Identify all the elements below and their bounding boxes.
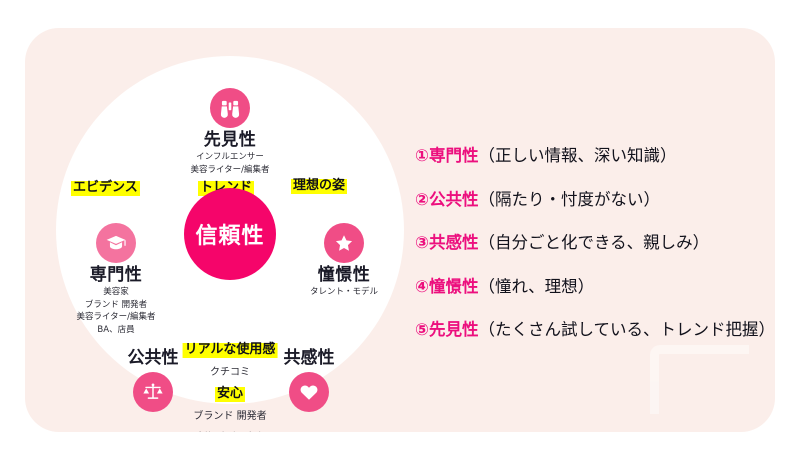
list-item: ③共感性（自分ごと化できる、親しみ） [415,235,775,252]
list-item: ①専門性（正しい情報、深い知識） [415,148,775,165]
list-item-key: ①専門性 [415,146,478,165]
list-item-value: （隔たり・忖度がない） [478,190,660,209]
caption-kuchikomi: クチコミ [210,363,250,378]
balance-scale-icon [133,372,173,412]
caption-anshin-sub-2: 家族、知人・友人 [196,430,264,432]
list-item: ②公共性（隔たり・忖度がない） [415,192,775,209]
node-title: 先見性 [150,130,310,151]
list-item-value: （自分ごと化できる、親しみ） [478,233,709,252]
node-shoukeisei: 憧憬性 タレント・モデル [264,223,424,299]
star-icon [324,223,364,263]
highlight-anshin: 安心 [215,387,245,402]
list-item: ④憧憬性（憧れ、理想） [415,279,775,296]
highlight-real-feel: リアルな使用感 [183,343,278,358]
list-item-key: ②公共性 [415,190,478,209]
node-title: 専門性 [36,265,196,286]
list-item: ⑤先見性（たくさん試している、トレンド把握） [415,322,775,339]
node-sub-line-1: タレント・モデル [264,287,424,298]
node-title: 憧憬性 [264,265,424,286]
attribute-list: ①専門性（正しい情報、深い知識） ②公共性（隔たり・忖度がない） ③共感性（自分… [415,148,775,366]
center-node-label: 信頼性 [195,218,264,250]
node-senmonsei: 専門性 美容家 ブランド 開発者 美容ライター/編集者 BA、店員 [36,223,196,336]
node-senkensei: 先見性 インフルエンサー 美容ライター/編集者 [150,88,310,176]
highlight-evidence: エビデンス [71,181,140,196]
node-sub-line-4: BA、店員 [36,325,196,336]
node-sub-line-3: 美容ライター/編集者 [36,312,196,323]
list-item-value: （たくさん試している、トレンド把握） [478,320,775,339]
list-item-value: （憧れ、理想） [478,277,594,296]
graduation-cap-icon [96,223,136,263]
node-sub-line-1: 美容家 [36,287,196,298]
list-item-key: ⑤先見性 [415,320,478,339]
content-card: 先見性 インフルエンサー 美容ライター/編集者 エビデンス トレンド 理想の姿 … [25,28,775,432]
trust-diagram: 先見性 インフルエンサー 美容ライター/編集者 エビデンス トレンド 理想の姿 … [31,48,381,423]
list-item-value: （正しい情報、深い知識） [478,146,676,165]
list-item-key: ③共感性 [415,233,478,252]
binoculars-icon [210,88,250,128]
node-sub-line-2: ブランド 開発者 [36,300,196,311]
caption-anshin-sub-1: ブランド 開発者 [193,407,266,422]
heart-icon [289,372,329,412]
highlight-ideal: 理想の姿 [291,179,347,194]
list-item-key: ④憧憬性 [415,277,478,296]
node-sub-line-1: インフルエンサー [150,152,310,163]
center-node-shinraisei: 信頼性 [184,188,276,280]
node-sub-line-2: 美容ライター/編集者 [150,165,310,176]
